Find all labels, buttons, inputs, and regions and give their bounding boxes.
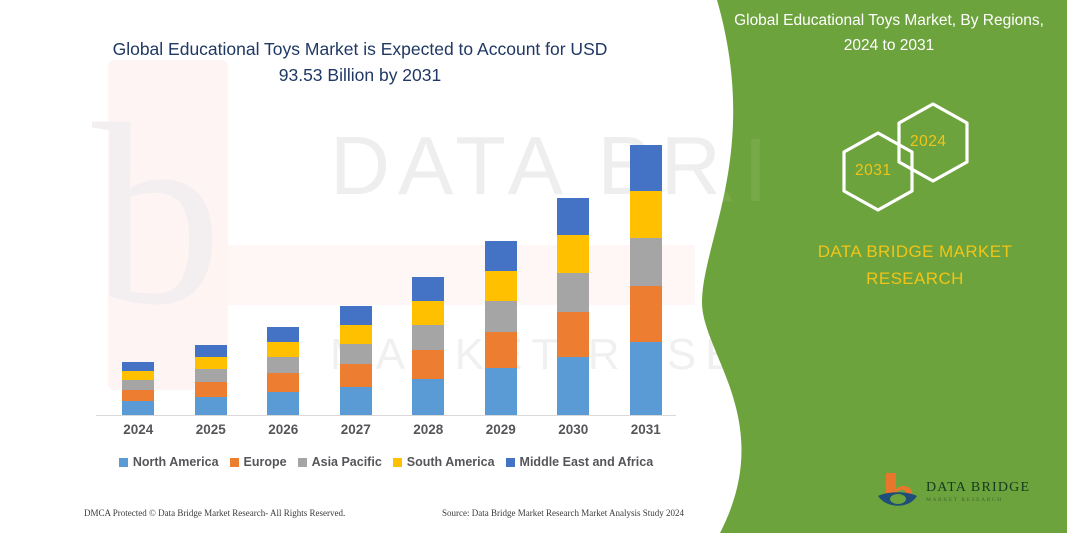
bar-column-2028[interactable]	[412, 277, 444, 415]
bar-segment[interactable]	[122, 401, 154, 415]
data-bridge-logo: DATA BRIDGE MARKET RESEARCH	[874, 468, 1054, 514]
logo-title: DATA BRIDGE	[926, 480, 1030, 496]
hexagon-label-2031: 2031	[855, 162, 891, 180]
legend-swatch-icon	[393, 458, 402, 467]
legend-label: South America	[407, 455, 495, 469]
x-tick-2029: 2029	[469, 422, 533, 437]
bar-segment[interactable]	[557, 357, 589, 415]
bar-column-2030[interactable]	[557, 198, 589, 415]
logo-text: DATA BRIDGE MARKET RESEARCH	[926, 480, 1030, 503]
legend-swatch-icon	[230, 458, 239, 467]
bar-segment[interactable]	[557, 273, 589, 312]
x-tick-2026: 2026	[251, 422, 315, 437]
bar-segment[interactable]	[557, 198, 589, 235]
panel-title: Global Educational Toys Market, By Regio…	[729, 8, 1049, 58]
logo-subtitle: MARKET RESEARCH	[926, 497, 1030, 503]
bar-segment[interactable]	[122, 390, 154, 401]
bar-segment[interactable]	[122, 380, 154, 390]
bar-column-2026[interactable]	[267, 327, 299, 415]
bar-segment[interactable]	[412, 325, 444, 350]
bar-column-2025[interactable]	[195, 345, 227, 415]
bar-segment[interactable]	[267, 357, 299, 373]
bar-segment[interactable]	[485, 332, 517, 368]
bar-segment[interactable]	[195, 357, 227, 369]
legend-item[interactable]: South America	[393, 455, 495, 469]
bar-segment[interactable]	[340, 387, 372, 415]
bar-segment[interactable]	[412, 350, 444, 379]
bar-segment[interactable]	[630, 191, 662, 238]
bar-segment[interactable]	[267, 392, 299, 415]
x-axis-line	[96, 415, 676, 416]
x-tick-2027: 2027	[324, 422, 388, 437]
legend-label: Asia Pacific	[312, 455, 382, 469]
bar-segment[interactable]	[412, 277, 444, 301]
bar-segment[interactable]	[412, 379, 444, 415]
bar-segment[interactable]	[195, 382, 227, 397]
bar-segment[interactable]	[557, 235, 589, 273]
brand-line-1: DATA BRIDGE MARKET	[795, 238, 1035, 265]
bar-segment[interactable]	[122, 371, 154, 380]
legend-item[interactable]: Middle East and Africa	[506, 455, 654, 469]
x-tick-2030: 2030	[541, 422, 605, 437]
bar-segment[interactable]	[340, 364, 372, 387]
bar-segment[interactable]	[630, 238, 662, 286]
x-tick-2031: 2031	[614, 422, 678, 437]
bar-segment[interactable]	[195, 345, 227, 357]
footer: DMCA Protected © Data Bridge Market Rese…	[84, 508, 684, 518]
legend-item[interactable]: Asia Pacific	[298, 455, 382, 469]
bar-segment[interactable]	[195, 397, 227, 415]
bar-segment[interactable]	[485, 271, 517, 301]
x-axis-tick-labels: 20242025202620272028202920302031	[96, 422, 676, 446]
bar-segment[interactable]	[267, 327, 299, 342]
x-tick-2025: 2025	[179, 422, 243, 437]
bar-segment[interactable]	[195, 369, 227, 382]
x-tick-2028: 2028	[396, 422, 460, 437]
chart-title: Global Educational Toys Market is Expect…	[90, 36, 630, 88]
legend-label: Europe	[244, 455, 287, 469]
x-tick-2024: 2024	[106, 422, 170, 437]
bar-segment[interactable]	[485, 368, 517, 415]
chart-legend: North AmericaEuropeAsia PacificSouth Ame…	[96, 455, 676, 469]
logo-mark-icon	[874, 469, 920, 513]
bar-segment[interactable]	[485, 301, 517, 332]
chart-plot-area	[96, 120, 676, 416]
bar-segment[interactable]	[630, 286, 662, 342]
bar-segment[interactable]	[630, 145, 662, 191]
bar-segment[interactable]	[267, 373, 299, 392]
bar-column-2031[interactable]	[630, 145, 662, 415]
bar-segment[interactable]	[340, 306, 372, 325]
bar-column-2024[interactable]	[122, 362, 154, 415]
brand-line-2: RESEARCH	[795, 265, 1035, 292]
bar-segment[interactable]	[557, 312, 589, 357]
legend-item[interactable]: North America	[119, 455, 219, 469]
legend-label: North America	[133, 455, 219, 469]
footer-copyright: DMCA Protected © Data Bridge Market Rese…	[84, 508, 345, 518]
hexagon-pair: 2024 2031	[828, 100, 988, 215]
legend-swatch-icon	[506, 458, 515, 467]
bar-segment[interactable]	[122, 362, 154, 371]
bar-segment[interactable]	[340, 325, 372, 344]
legend-item[interactable]: Europe	[230, 455, 287, 469]
infographic-canvas: b DATA BRIDGE MARKET RESEARCH Global Edu…	[0, 0, 1067, 533]
bar-segment[interactable]	[630, 342, 662, 415]
bar-segment[interactable]	[485, 241, 517, 271]
bar-column-2029[interactable]	[485, 241, 517, 415]
panel-watermark: RI	[672, 120, 774, 223]
legend-swatch-icon	[119, 458, 128, 467]
bar-segment[interactable]	[412, 301, 444, 325]
brand-name: DATA BRIDGE MARKET RESEARCH	[795, 238, 1035, 292]
footer-source: Source: Data Bridge Market Research Mark…	[442, 508, 684, 518]
legend-label: Middle East and Africa	[520, 455, 654, 469]
legend-swatch-icon	[298, 458, 307, 467]
bar-column-2027[interactable]	[340, 306, 372, 415]
bar-segment[interactable]	[340, 344, 372, 364]
hexagon-label-2024: 2024	[910, 133, 946, 151]
bar-segment[interactable]	[267, 342, 299, 357]
